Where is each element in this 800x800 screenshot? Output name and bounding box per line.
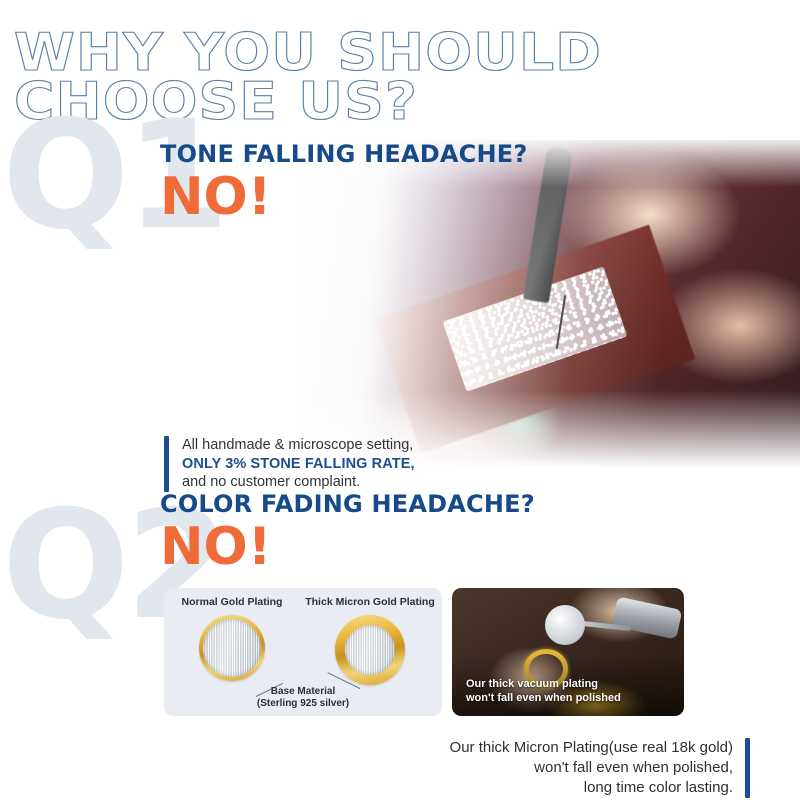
coin-thick-plating (335, 615, 405, 685)
plating-column-thick: Thick Micron Gold Plating (304, 596, 436, 685)
plating-label-thick: Thick Micron Gold Plating (304, 596, 436, 608)
bottom-caption-line-2: won't fall even when polished, (450, 758, 733, 778)
coin-core-silver (345, 625, 395, 675)
base-material-line-1: Base Material (164, 686, 442, 698)
question-1-title: TONE FALLING HEADACHE? (160, 140, 760, 168)
question-2-title: COLOR FADING HEADACHE? (160, 490, 760, 518)
plating-comparison-card: Normal Gold Plating Thick Micron Gold Pl… (164, 588, 442, 716)
coin-normal-plating (199, 615, 265, 681)
bottom-caption-text: Our thick Micron Plating(use real 18k go… (450, 738, 733, 798)
plating-label-normal: Normal Gold Plating (172, 596, 292, 608)
base-material-label: Base Material (Sterling 925 silver) (164, 686, 442, 710)
plating-column-normal: Normal Gold Plating (172, 596, 292, 681)
question-1-body: TONE FALLING HEADACHE? NO! (160, 140, 760, 224)
bottom-caption-line-3: long time color lasting. (450, 778, 733, 798)
polishing-photo-caption: Our thick vacuum plating won't fall even… (466, 678, 621, 705)
question-2-answer: NO! (160, 520, 760, 574)
photo-caption-line-1: Our thick vacuum plating (466, 678, 621, 692)
hero-heading-line-1: WHY YOU SHOULD (14, 30, 800, 76)
question-1-answer: NO! (160, 170, 760, 224)
promo-page: WHY YOU SHOULD CHOOSE US? Q1 TONE FALLIN… (0, 0, 800, 800)
bottom-caption: Our thick Micron Plating(use real 18k go… (330, 738, 750, 798)
photo-caption-line-2: won't fall even when polished (466, 692, 621, 706)
bottom-caption-line-1: Our thick Micron Plating(use real 18k go… (450, 738, 733, 758)
quote-line-2-highlight: ONLY 3% STONE FALLING RATE, (182, 455, 415, 474)
bottom-caption-accent-bar (745, 738, 750, 798)
quote-line-1: All handmade & microscope setting, (182, 436, 415, 455)
polishing-photo: Our thick vacuum plating won't fall even… (452, 588, 684, 716)
question-block-1: Q1 TONE FALLING HEADACHE? NO! All handma… (0, 140, 800, 485)
question-2-body: COLOR FADING HEADACHE? NO! (160, 490, 760, 574)
base-material-line-2: (Sterling 925 silver) (164, 698, 442, 710)
coin-core-silver (203, 619, 261, 677)
